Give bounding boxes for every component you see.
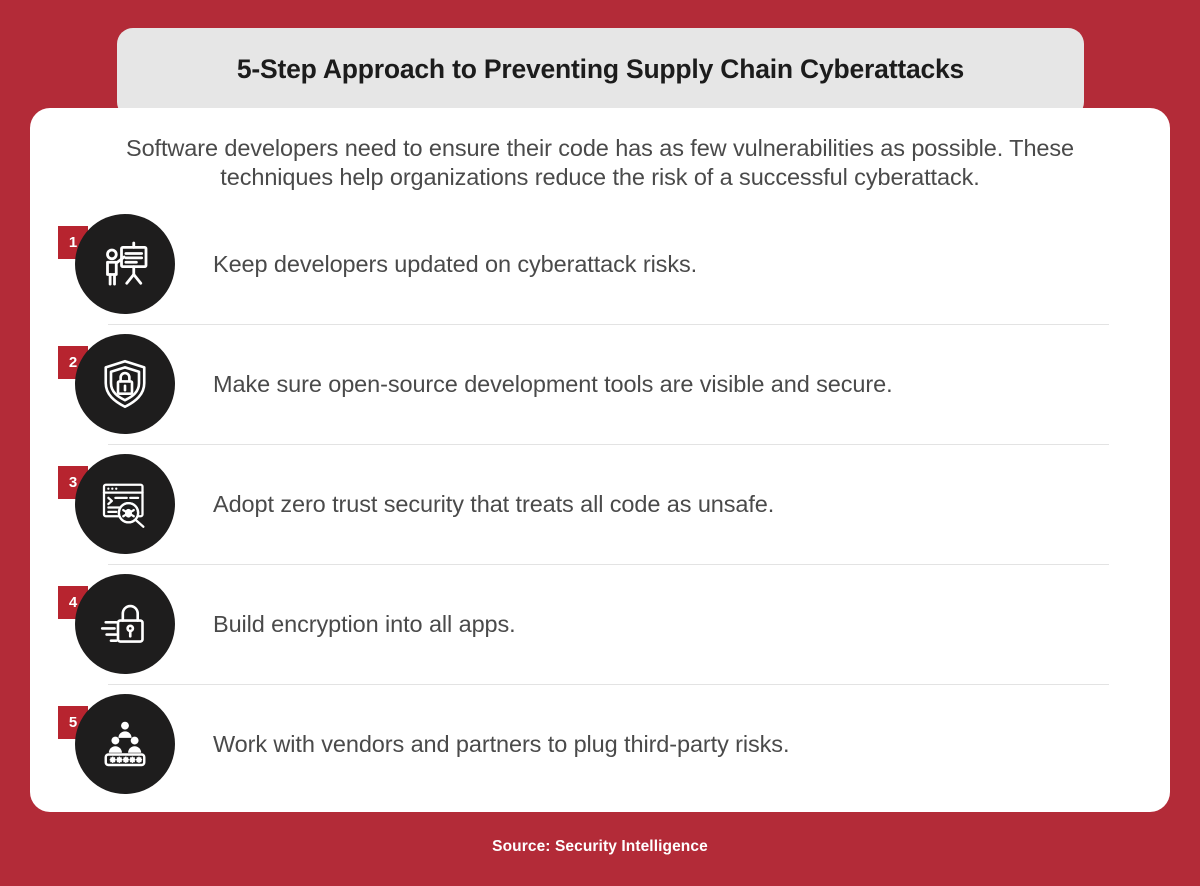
intro-paragraph: Software developers need to ensure their… — [75, 134, 1125, 192]
people-password-icon — [75, 694, 175, 794]
step-icon-group: 4 — [75, 574, 175, 674]
step-text: Adopt zero trust security that treats al… — [213, 491, 774, 518]
list-item: 2 Make sure open-source development tool… — [75, 324, 1125, 444]
main-card: Software developers need to ensure their… — [30, 108, 1170, 812]
footer: Source: Security Intelligence — [0, 838, 1200, 856]
step-icon-group: 2 — [75, 334, 175, 434]
list-item: 4 Build encryption into all apps. — [75, 564, 1125, 684]
list-item: 1 — [75, 204, 1125, 324]
step-icon-group: 1 — [75, 214, 175, 314]
steps-list: 1 — [75, 204, 1125, 804]
header-plate: 5-Step Approach to Preventing Supply Cha… — [117, 28, 1084, 118]
step-text: Build encryption into all apps. — [213, 611, 516, 638]
step-text: Work with vendors and partners to plug t… — [213, 731, 789, 758]
step-icon-group: 3 — [75, 454, 175, 554]
step-text: Make sure open-source development tools … — [213, 371, 893, 398]
padlock-speed-lines-icon — [75, 574, 175, 674]
shield-lock-icon — [75, 334, 175, 434]
list-item: 3 — [75, 444, 1125, 564]
code-window-magnifier-bug-icon — [75, 454, 175, 554]
step-icon-group: 5 — [75, 694, 175, 794]
page-title: 5-Step Approach to Preventing Supply Cha… — [237, 54, 964, 85]
presentation-training-icon — [75, 214, 175, 314]
step-text: Keep developers updated on cyberattack r… — [213, 251, 697, 278]
source-label: Source: Security Intelligence — [492, 838, 708, 855]
list-item: 5 — [75, 684, 1125, 804]
